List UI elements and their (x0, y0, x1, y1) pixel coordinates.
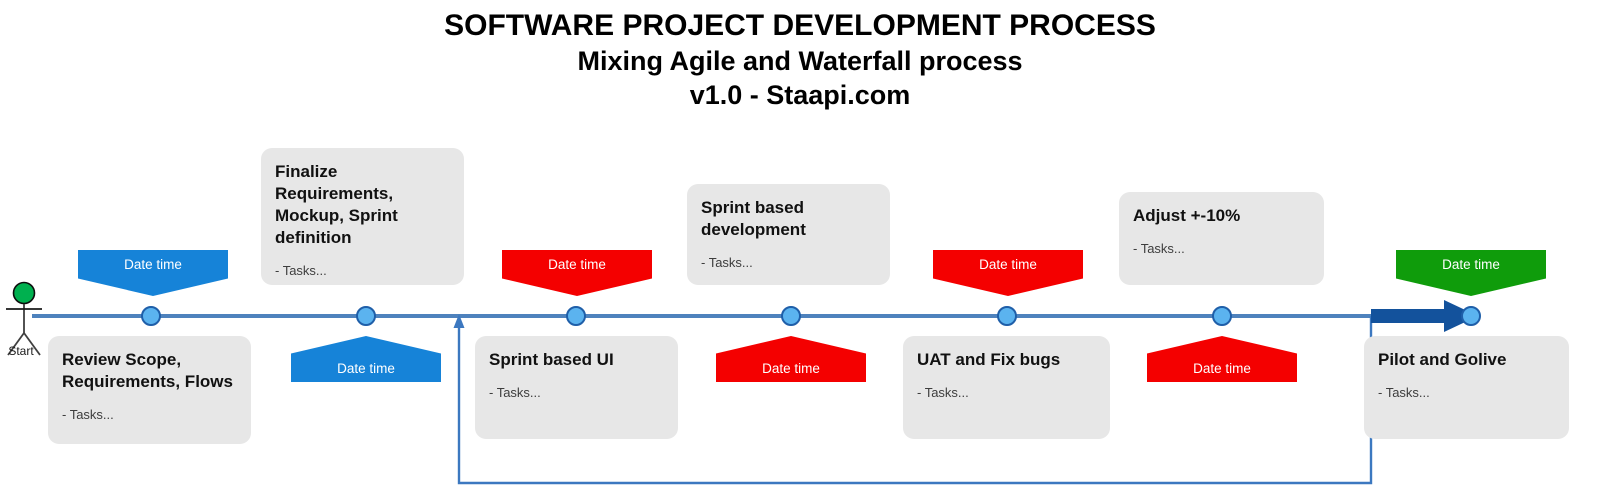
phase-card-title: Pilot and Golive (1378, 349, 1555, 371)
phase-card-title: Sprint based development (701, 197, 876, 241)
diagram-canvas: SOFTWARE PROJECT DEVELOPMENT PROCESS Mix… (0, 0, 1600, 499)
phase-card-tasks: - Tasks... (701, 255, 876, 271)
phase-card-tasks: - Tasks... (275, 263, 450, 279)
phase-card-title: Review Scope, Requirements, Flows (62, 349, 237, 393)
date-banner-7[interactable]: Date time (1396, 250, 1546, 296)
phase-card-7[interactable]: Pilot and Golive- Tasks... (1364, 336, 1569, 439)
date-banner-2[interactable]: Date time (291, 336, 441, 382)
date-banner-label: Date time (124, 257, 182, 272)
phase-card-tasks: - Tasks... (1378, 385, 1555, 401)
title-line-2: Mixing Agile and Waterfall process (0, 44, 1600, 78)
phase-card-3[interactable]: Sprint based UI- Tasks... (475, 336, 678, 439)
page-title: SOFTWARE PROJECT DEVELOPMENT PROCESS Mix… (0, 8, 1600, 112)
date-banner-label: Date time (979, 257, 1037, 272)
phase-card-2[interactable]: Finalize Requirements, Mockup, Sprint de… (261, 148, 464, 285)
title-line-3: v1.0 - Staapi.com (0, 78, 1600, 112)
milestone-marker-7[interactable] (1461, 306, 1481, 326)
start-actor-label: Start (0, 344, 42, 358)
timeline-axis (32, 314, 1472, 318)
date-banner-6[interactable]: Date time (1147, 336, 1297, 382)
phase-card-title: Adjust +-10% (1133, 205, 1310, 227)
phase-card-4[interactable]: Sprint based development- Tasks... (687, 184, 890, 285)
milestone-marker-3[interactable] (566, 306, 586, 326)
date-banner-label: Date time (762, 361, 820, 376)
phase-card-6[interactable]: Adjust +-10%- Tasks... (1119, 192, 1324, 285)
milestone-marker-4[interactable] (781, 306, 801, 326)
milestone-marker-6[interactable] (1212, 306, 1232, 326)
date-banner-5[interactable]: Date time (933, 250, 1083, 296)
phase-card-title: Sprint based UI (489, 349, 664, 371)
phase-card-5[interactable]: UAT and Fix bugs- Tasks... (903, 336, 1110, 439)
phase-card-1[interactable]: Review Scope, Requirements, Flows- Tasks… (48, 336, 251, 444)
milestone-marker-5[interactable] (997, 306, 1017, 326)
date-banner-label: Date time (337, 361, 395, 376)
date-banner-4[interactable]: Date time (716, 336, 866, 382)
phase-card-tasks: - Tasks... (62, 407, 237, 423)
date-banner-1[interactable]: Date time (78, 250, 228, 296)
date-banner-label: Date time (1193, 361, 1251, 376)
date-banner-label: Date time (1442, 257, 1500, 272)
phase-card-tasks: - Tasks... (917, 385, 1096, 401)
phase-card-title: UAT and Fix bugs (917, 349, 1096, 371)
date-banner-3[interactable]: Date time (502, 250, 652, 296)
phase-card-tasks: - Tasks... (489, 385, 664, 401)
date-banner-label: Date time (548, 257, 606, 272)
phase-card-title: Finalize Requirements, Mockup, Sprint de… (275, 161, 450, 249)
phase-card-tasks: - Tasks... (1133, 241, 1310, 257)
milestone-marker-1[interactable] (141, 306, 161, 326)
milestone-marker-2[interactable] (356, 306, 376, 326)
title-line-1: SOFTWARE PROJECT DEVELOPMENT PROCESS (0, 8, 1600, 44)
